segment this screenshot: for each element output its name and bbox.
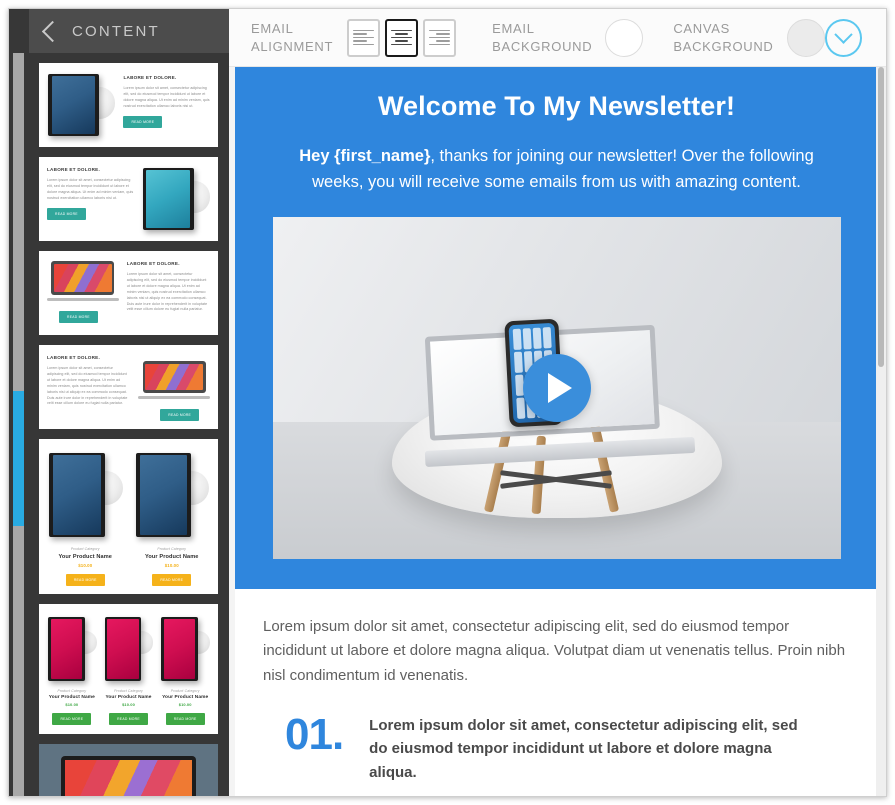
read-more-button[interactable]: READ MORE <box>152 574 191 586</box>
email-body-paragraph: Lorem ipsum dolor sit amet, consectetur … <box>263 615 850 688</box>
product-name: Your Product Name <box>135 554 210 560</box>
chevron-left-icon[interactable] <box>42 20 63 41</box>
pink-case-art <box>160 614 210 684</box>
list-item[interactable] <box>39 744 218 797</box>
sidebar-scrollbar-thumb[interactable] <box>13 391 24 526</box>
list-number: 01. <box>285 714 343 756</box>
product-name: Your Product Name <box>47 695 97 700</box>
blue-case-art <box>48 449 123 541</box>
email-background-label: EMAIL BACKGROUND <box>492 20 592 55</box>
product-category: Product Category <box>135 547 210 551</box>
block-body: Lorem ipsum dolor sit amet, consectetur … <box>47 178 134 202</box>
email-video-block[interactable] <box>273 217 841 559</box>
email-intro-bold: Hey {first_name} <box>299 147 430 165</box>
align-center-icon[interactable] <box>385 19 418 57</box>
laptop-slate-art <box>61 756 196 797</box>
product-name: Your Product Name <box>160 695 210 700</box>
laptop-art <box>47 259 119 305</box>
read-more-button[interactable]: READ MORE <box>66 574 105 586</box>
align-right-icon[interactable] <box>423 19 456 57</box>
product-name: Your Product Name <box>48 554 123 560</box>
list-item[interactable]: READ MORE LABORE ET DOLORE. Lorem ipsum … <box>39 251 218 335</box>
email-document: Welcome To My Newsletter! Hey {first_nam… <box>235 67 878 797</box>
align-left-icon[interactable] <box>347 19 380 57</box>
block-body: Lorem ipsum dolor sit amet, consectetur … <box>47 366 130 407</box>
content-sidebar: CONTENT LABORE ET DOLORE. Lorem ipsum do… <box>9 9 229 797</box>
product-category: Product Category <box>104 689 154 693</box>
canvas-background-label: CANVAS BACKGROUND <box>673 20 773 55</box>
email-background-swatch[interactable] <box>605 19 643 57</box>
product-name: Your Product Name <box>104 695 154 700</box>
app-frame: CONTENT LABORE ET DOLORE. Lorem ipsum do… <box>8 8 887 797</box>
read-more-button[interactable]: READ MORE <box>52 713 91 725</box>
blue-case-art <box>47 71 115 139</box>
email-hero-section[interactable]: Welcome To My Newsletter! Hey {first_nam… <box>235 67 878 589</box>
canvas-background-swatch[interactable] <box>787 19 825 57</box>
list-number-text: Lorem ipsum dolor sit amet, consectetur … <box>369 714 809 784</box>
play-button-icon[interactable] <box>523 354 591 422</box>
read-more-button[interactable]: READ MORE <box>166 713 205 725</box>
content-block-list: LABORE ET DOLORE. Lorem ipsum dolor sit … <box>29 53 229 797</box>
numbered-list-item[interactable]: 01. Lorem ipsum dolor sit amet, consecte… <box>263 714 850 784</box>
canvas-scrollbar-thumb[interactable] <box>878 67 884 367</box>
sidebar-header[interactable]: CONTENT <box>29 9 229 53</box>
read-more-button[interactable]: READ MORE <box>59 311 98 323</box>
block-body: Lorem ipsum dolor sit amet, consectetur … <box>127 272 210 313</box>
blue-case-art <box>135 449 210 541</box>
top-toolbar: EMAIL ALIGNMENT EMAIL BACKGROUND CANVAS … <box>229 9 887 67</box>
product-category: Product Category <box>48 547 123 551</box>
block-heading: LABORE ET DOLORE. <box>123 75 210 82</box>
email-alignment-options <box>347 19 456 57</box>
laptop-art <box>138 359 210 403</box>
list-item[interactable]: LABORE ET DOLORE. Lorem ipsum dolor sit … <box>39 345 218 429</box>
canvas-scrollbar-track[interactable] <box>876 67 886 797</box>
email-body-section[interactable]: Lorem ipsum dolor sit amet, consectetur … <box>235 589 878 794</box>
email-intro-text: Hey {first_name}, thanks for joining our… <box>277 144 837 195</box>
product-price: $10.00 <box>135 563 210 568</box>
product-price: $10.00 <box>47 702 97 707</box>
list-item[interactable]: Product Category Your Product Name $10.0… <box>39 604 218 734</box>
pink-case-art <box>47 614 97 684</box>
chevron-down-circle-icon[interactable] <box>825 19 862 57</box>
list-item[interactable]: LABORE ET DOLORE. Lorem ipsum dolor sit … <box>39 63 218 147</box>
product-category: Product Category <box>47 689 97 693</box>
block-body: Lorem ipsum dolor sit amet, consectetur … <box>123 86 210 110</box>
email-canvas: Welcome To My Newsletter! Hey {first_nam… <box>229 67 887 797</box>
read-more-button[interactable]: READ MORE <box>109 713 148 725</box>
email-title: Welcome To My Newsletter! <box>263 91 850 122</box>
list-item[interactable]: Product Category Your Product Name $10.0… <box>39 439 218 594</box>
product-price: $10.00 <box>48 563 123 568</box>
product-price: $10.00 <box>104 702 154 707</box>
sidebar-title: CONTENT <box>72 23 160 40</box>
read-more-button[interactable]: READ MORE <box>123 116 162 128</box>
read-more-button[interactable]: READ MORE <box>47 208 86 220</box>
read-more-button[interactable]: READ MORE <box>160 409 199 421</box>
teal-case-art <box>142 165 210 233</box>
list-item[interactable]: LABORE ET DOLORE. Lorem ipsum dolor sit … <box>39 157 218 241</box>
email-alignment-label: EMAIL ALIGNMENT <box>251 20 333 55</box>
block-heading: LABORE ET DOLORE. <box>127 261 210 268</box>
block-heading: LABORE ET DOLORE. <box>47 167 134 174</box>
pink-case-art <box>104 614 154 684</box>
block-heading: LABORE ET DOLORE. <box>47 355 130 362</box>
product-category: Product Category <box>160 689 210 693</box>
email-builder-app: CONTENT LABORE ET DOLORE. Lorem ipsum do… <box>0 0 895 805</box>
product-price: $10.00 <box>160 702 210 707</box>
